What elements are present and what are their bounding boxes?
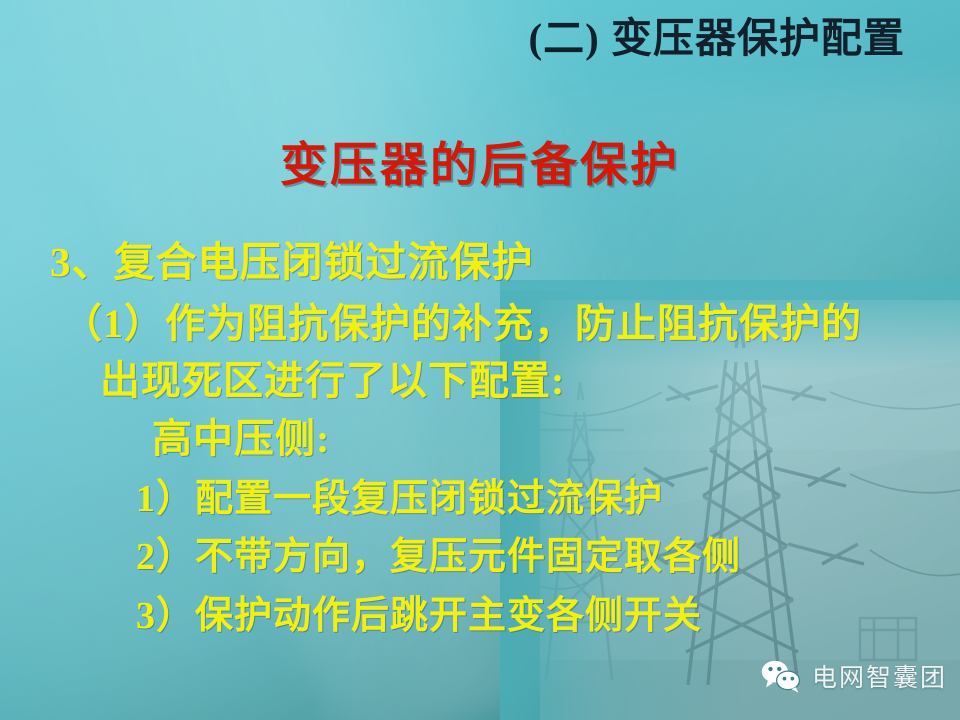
page-title: 变压器的后备保护 [0,138,960,194]
slide-canvas: (二) 变压器保护配置 变压器的后备保护 3、复合电压闭锁过流保护 （1）作为阻… [0,0,960,720]
body-line-5: 1）配置一段复压闭锁过流保护 [136,467,663,522]
watermark: 电网智囊团 [760,658,947,694]
body-line-6: 2）不带方向，复压元件固定取各侧 [136,525,741,580]
body-line-3: 出现死区进行了以下配置: [100,348,565,406]
body-line-7: 3）保护动作后跳开主变各侧开关 [136,584,702,639]
body-line-4: 高中压侧: [152,406,330,464]
body-line-1: 3、复合电压闭锁过流保护 [50,228,534,288]
slide-header-title: (二) 变压器保护配置 [0,14,905,62]
watermark-label: 电网智囊团 [812,658,947,694]
wechat-icon [760,659,802,693]
body-line-2: （1）作为阻抗保护的补充，防止阻抗保护的 [62,291,862,349]
